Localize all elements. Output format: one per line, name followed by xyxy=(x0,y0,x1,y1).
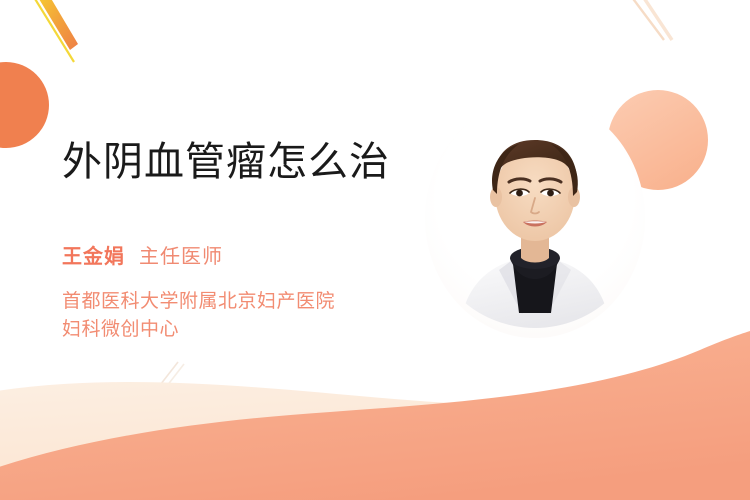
doctor-portrait xyxy=(425,98,645,338)
page-title: 外阴血管瘤怎么治 xyxy=(62,139,390,185)
doctor-identity-line: 王金娟主任医师 xyxy=(62,247,223,267)
portrait-illustration xyxy=(425,98,645,338)
doctor-rank-title: 主任医师 xyxy=(139,246,223,268)
doctor-name: 王金娟 xyxy=(62,246,125,268)
doctor-info-card: 外阴血管瘤怎么治 王金娟主任医师 首都医科大学附属北京妇产医院 妇科微创中心 xyxy=(0,0,750,500)
card-content: 外阴血管瘤怎么治 王金娟主任医师 首都医科大学附属北京妇产医院 妇科微创中心 xyxy=(0,0,750,500)
affiliation-line-1: 首都医科大学附属北京妇产医院 xyxy=(62,288,335,316)
affiliation-line-2: 妇科微创中心 xyxy=(62,316,335,344)
doctor-affiliation: 首都医科大学附属北京妇产医院 妇科微创中心 xyxy=(62,288,335,344)
